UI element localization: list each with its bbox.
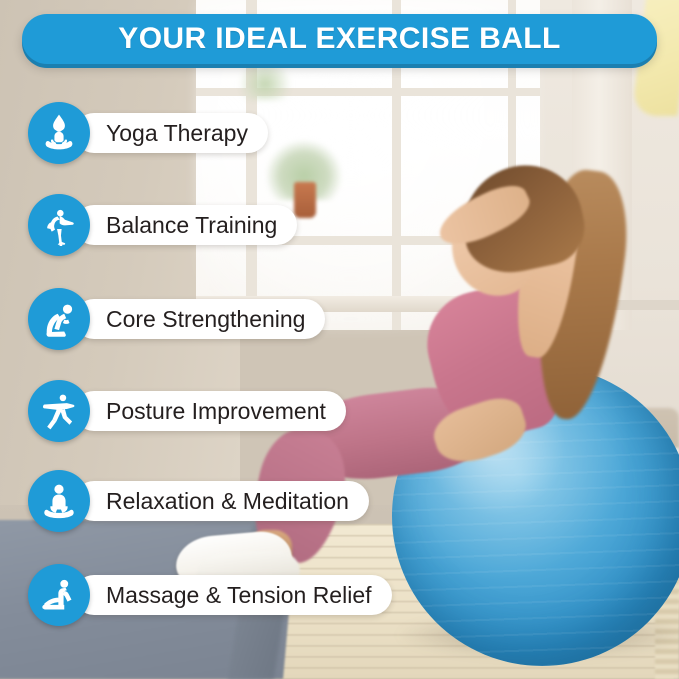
yoga-lotus-arms-up-icon [38, 112, 80, 154]
feature-item-yoga-therapy[interactable]: Yoga Therapy [28, 102, 268, 164]
meditation-lotus-icon [38, 480, 80, 522]
feature-label: Relaxation & Meditation [106, 488, 349, 515]
feature-pill-massage-tension-relief[interactable]: Massage & Tension Relief [74, 575, 392, 615]
feature-item-core-strengthening[interactable]: Core Strengthening [28, 288, 325, 350]
feature-label: Balance Training [106, 212, 277, 239]
feature-item-balance-training[interactable]: Balance Training [28, 194, 297, 256]
feature-label: Core Strengthening [106, 306, 305, 333]
feature-badge-relaxation-meditation [28, 470, 90, 532]
feature-pill-core-strengthening[interactable]: Core Strengthening [74, 299, 325, 339]
feature-list: Yoga Therapy Balance Training [0, 0, 679, 679]
feature-pill-balance-training[interactable]: Balance Training [74, 205, 297, 245]
feature-label: Massage & Tension Relief [106, 582, 372, 609]
feature-item-massage-tension-relief[interactable]: Massage & Tension Relief [28, 564, 392, 626]
feature-badge-massage-tension-relief [28, 564, 90, 626]
posture-warrior-pose-icon [38, 390, 80, 432]
core-crunch-situp-icon [38, 298, 80, 340]
feature-pill-posture-improvement[interactable]: Posture Improvement [74, 391, 346, 431]
feature-badge-posture-improvement [28, 380, 90, 442]
balance-dancer-pose-icon [38, 204, 80, 246]
feature-item-relaxation-meditation[interactable]: Relaxation & Meditation [28, 470, 369, 532]
feature-pill-yoga-therapy[interactable]: Yoga Therapy [74, 113, 268, 153]
feature-badge-yoga-therapy [28, 102, 90, 164]
feature-label: Posture Improvement [106, 398, 326, 425]
feature-item-posture-improvement[interactable]: Posture Improvement [28, 380, 346, 442]
feature-badge-core-strengthening [28, 288, 90, 350]
massage-stretch-icon [38, 574, 80, 616]
feature-badge-balance-training [28, 194, 90, 256]
feature-label: Yoga Therapy [106, 120, 248, 147]
feature-pill-relaxation-meditation[interactable]: Relaxation & Meditation [74, 481, 369, 521]
